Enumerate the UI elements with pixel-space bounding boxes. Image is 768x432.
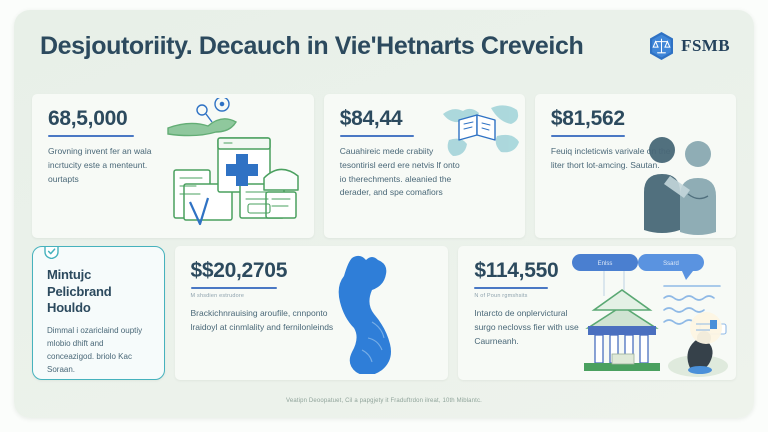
stat-value: $$20,2705 bbox=[191, 260, 351, 282]
stat-card-region: $$20,2705 M shsdien estrudore Brackichnr… bbox=[175, 246, 449, 380]
stat-row-top: 68,5,000 Grovning invent fer an wala inc… bbox=[32, 94, 736, 238]
hexagon-scales-logo-icon bbox=[648, 31, 675, 61]
pill-right bbox=[638, 254, 704, 271]
accent-rule bbox=[340, 135, 414, 137]
stat-row-bottom: Mintujc Pelicbrand Houldo Dimmal i ozari… bbox=[32, 246, 736, 380]
callout-description: Dimmal i ozariclaind ouptiy mlobio dhift… bbox=[47, 324, 152, 377]
footer-note: Veatipn Deoopatuet, Cil a papgjety it Fr… bbox=[14, 398, 754, 404]
callout-card: Mintujc Pelicbrand Houldo Dimmal i ozari… bbox=[32, 246, 165, 380]
stat-value: $114,550 bbox=[474, 260, 586, 282]
accent-rule bbox=[191, 287, 277, 289]
stat-description: Brackichnrauising aroufile, cnnponto lra… bbox=[191, 307, 351, 335]
accent-rule bbox=[48, 135, 134, 137]
accent-rule bbox=[474, 287, 548, 289]
brand-name: FSMB bbox=[681, 36, 730, 56]
bank-temple-illustration-icon: Enlss Ssard bbox=[564, 250, 734, 378]
stat-description: Cauahireic mede crabiity tesontirisl eer… bbox=[340, 145, 465, 200]
callout-title: Mintujc Pelicbrand Houldo bbox=[47, 267, 152, 317]
header: Desjoutoriity. Decauch in Vie'Hetnarts C… bbox=[14, 10, 754, 82]
stat-card-cost: $84,44 Cauahireic mede crabiity tesontir… bbox=[324, 94, 525, 238]
stat-description: Intarcto de onplervictural surgo neclovs… bbox=[474, 307, 586, 348]
svg-text:Ssard: Ssard bbox=[663, 261, 679, 267]
accent-rule bbox=[551, 135, 625, 137]
stat-description: Grovning invent fer an wala incrtucity e… bbox=[48, 145, 160, 186]
infographic-panel: Desjoutoriity. Decauch in Vie'Hetnarts C… bbox=[14, 10, 754, 418]
stat-card-funding: $114,550 N of Poun rgmshsits Intarcto de… bbox=[458, 246, 736, 380]
clinic-building-illustration-icon bbox=[162, 98, 310, 238]
stat-card-patients: 68,5,000 Grovning invent fer an wala inc… bbox=[32, 94, 314, 238]
page-title: Desjoutoriity. Decauch in Vie'Hetnarts C… bbox=[40, 32, 583, 61]
stat-value: $84,44 bbox=[340, 108, 465, 130]
shield-check-badge-icon bbox=[43, 246, 60, 259]
brand-logo: FSMB bbox=[648, 31, 730, 61]
stat-description: Feuiq incleticwis varivale on the liter … bbox=[551, 145, 676, 173]
stat-value: $81,562 bbox=[551, 108, 676, 130]
stat-sublabel: M shsdien estrudore bbox=[191, 293, 351, 300]
stat-card-providers: $81,562 Feuiq incleticwis varivale on th… bbox=[535, 94, 736, 238]
svg-text:Enlss: Enlss bbox=[598, 261, 613, 267]
stat-value: 68,5,000 bbox=[48, 108, 160, 130]
stat-sublabel: N of Poun rgmshsits bbox=[474, 293, 586, 300]
